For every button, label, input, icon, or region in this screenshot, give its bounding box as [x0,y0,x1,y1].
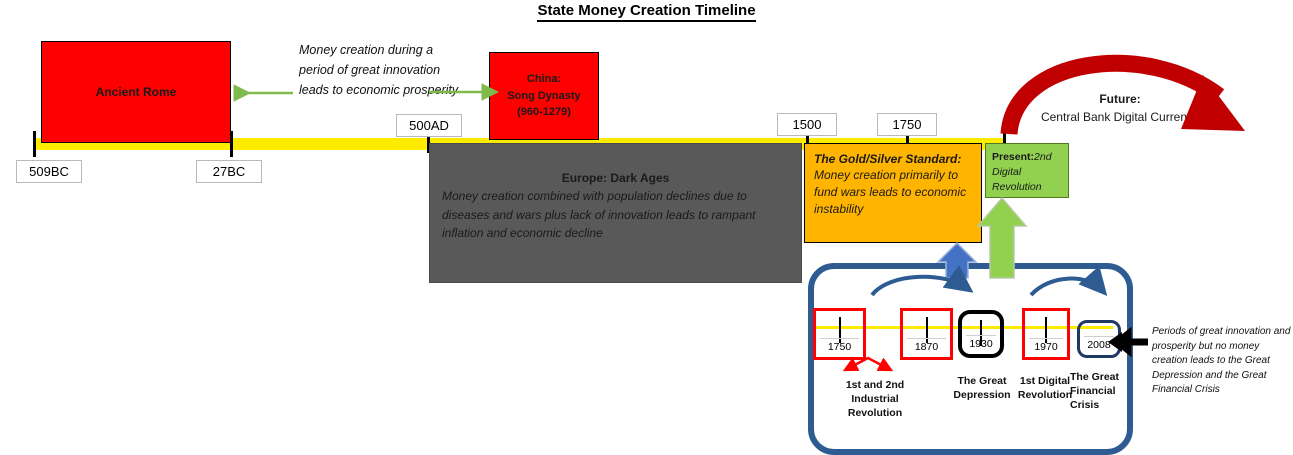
era-ancient-rome-label: Ancient Rome [96,85,177,99]
era-dark-ages-body: Money creation combined with population … [442,187,789,243]
era-china-line3: (960-1279) [517,104,571,121]
date-chip-509bc-label: 509BC [29,164,69,179]
event-box-1930[interactable]: 1930 [958,310,1004,358]
era-present[interactable]: Present:2nd Digital Revolution [985,143,1069,198]
date-chip-1750-label: 1750 [893,117,922,132]
era-gold-body: Money creation primarily to fund wars le… [814,167,972,217]
page-title-text: State Money Creation Timeline [537,2,755,22]
era-china-song-dynasty[interactable]: China: Song Dynasty (960-1279) [489,52,599,140]
era-present-label: Present: [992,151,1034,163]
caption-financial-crisis: The Great Financial Crisis [1070,370,1122,413]
annotation-no-money-creation: Periods of great innovation and prosperi… [1152,325,1293,398]
era-gold-heading: The Gold/Silver Standard: [814,152,981,166]
page-title: State Money Creation Timeline [0,2,1293,19]
date-chip-27bc-label: 27BC [213,164,246,179]
caption-digital-revolution: 1st Digital Revolution [1014,374,1076,402]
date-chip-500ad[interactable]: 500AD [396,114,462,137]
era-gold-silver-standard[interactable]: The Gold/Silver Standard: Money creation… [804,143,982,243]
future-label-title: Future: [1099,92,1140,106]
era-china-line1: China: [527,71,561,88]
caption-great-depression: The Great Depression [944,374,1020,402]
date-chip-500ad-label: 500AD [409,118,449,133]
event-box-1750[interactable]: 1750 [813,308,866,360]
event-box-2008[interactable]: 2008 [1077,320,1121,358]
era-dark-ages-heading: Europe: Dark Ages [430,171,801,185]
date-chip-509bc[interactable]: 509BC [16,160,82,183]
era-europe-dark-ages[interactable]: Europe: Dark Ages Money creation combine… [429,143,802,283]
event-label-1870: 1870 [907,338,946,353]
future-label-value: Central Bank Digital Currency [1041,110,1199,124]
event-label-1750: 1750 [820,338,859,353]
event-box-1870[interactable]: 1870 [900,308,953,360]
date-chip-1500[interactable]: 1500 [777,113,837,136]
annotation-prosperity: Money creation during a period of great … [299,40,459,100]
event-label-2008: 2008 [1084,336,1114,351]
date-chip-1750[interactable]: 1750 [877,113,937,136]
event-box-1970[interactable]: 1970 [1022,308,1070,360]
tick-509bc [33,131,36,157]
date-chip-27bc[interactable]: 27BC [196,160,262,183]
future-label: Future: Central Bank Digital Currency [1020,90,1220,126]
era-ancient-rome[interactable]: Ancient Rome [41,41,231,143]
date-chip-1500-label: 1500 [793,117,822,132]
event-label-1930: 1930 [966,335,996,350]
event-label-1970: 1970 [1029,338,1063,353]
caption-industrial-revolution: 1st and 2nd Industrial Revolution [832,378,918,421]
era-china-line2: Song Dynasty [507,88,580,105]
